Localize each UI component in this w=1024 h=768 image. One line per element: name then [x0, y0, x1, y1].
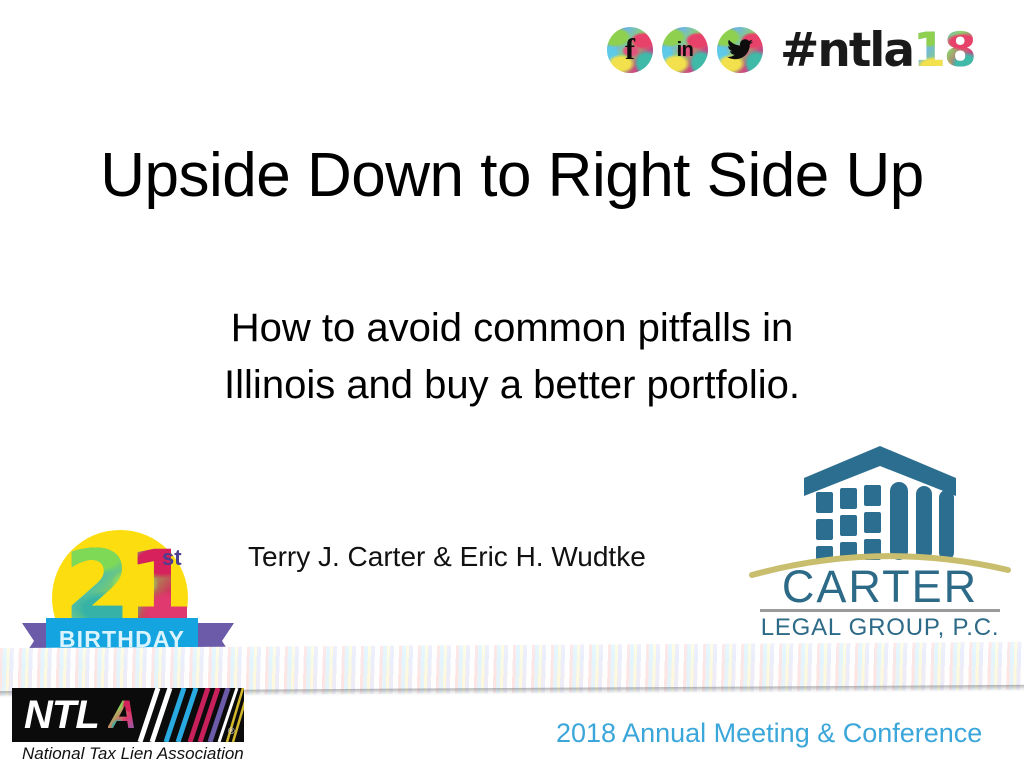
facebook-icon[interactable]: f: [607, 27, 653, 73]
ntla-stripes-icon: [130, 688, 244, 742]
twitter-icon[interactable]: [717, 27, 763, 73]
ntla-mark-prefix: NTL: [24, 692, 99, 738]
presentation-slide: f in #ntla 18 Upside Down to Right Side …: [0, 0, 1024, 768]
conference-footer-text: 2018 Annual Meeting & Conference: [556, 718, 982, 749]
hashtag-year: 18: [913, 27, 974, 74]
slide-title: Upside Down to Right Side Up: [0, 143, 1024, 208]
registered-trademark-icon: ®: [228, 726, 235, 736]
hashtag-banner: f in #ntla 18: [607, 14, 999, 86]
ntla-logo: NTL A ® National Tax Lien Associati: [12, 688, 244, 768]
hashtag-text: #ntla 18: [780, 27, 975, 74]
linkedin-glyph: in: [677, 40, 694, 60]
birthday-ordinal-suffix: st: [162, 545, 182, 571]
ntla-logo-block: NTL A ®: [12, 688, 244, 742]
subtitle-line-1: How to avoid common pitfalls in: [0, 300, 1024, 357]
carter-subtitle: LEGAL GROUP, P.C.: [748, 614, 1012, 642]
ntla-caption: National Tax Lien Association: [22, 744, 244, 764]
facebook-glyph: f: [625, 35, 635, 65]
linkedin-icon[interactable]: in: [662, 27, 708, 73]
presenter-names: Terry J. Carter & Eric H. Wudtke: [248, 541, 646, 573]
carter-legal-group-logo: CARTER LEGAL GROUP, P.C.: [748, 444, 1012, 644]
carter-wordmark: CARTER: [748, 564, 1012, 609]
subtitle-line-2: Illinois and buy a better portfolio.: [0, 357, 1024, 414]
carter-divider-rule: [760, 609, 1000, 612]
twitter-bird-glyph: [727, 39, 753, 61]
hashtag-prefix: #ntla: [780, 27, 913, 74]
slide-subtitle: How to avoid common pitfalls in Illinois…: [0, 300, 1024, 414]
